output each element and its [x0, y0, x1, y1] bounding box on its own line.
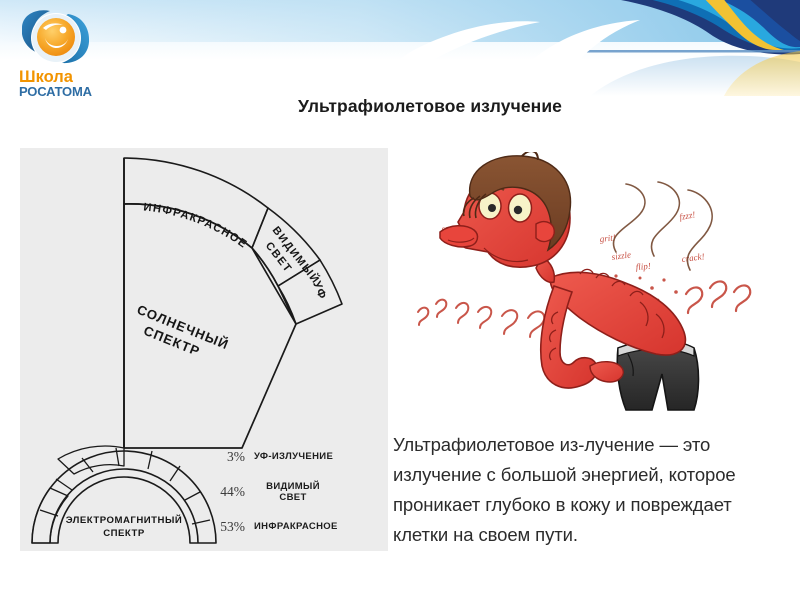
legend-label-line2: СВЕТ	[279, 492, 306, 503]
legend-label: ВИДИМЫЙ СВЕТ	[254, 481, 332, 504]
person-body	[440, 152, 699, 410]
label-uv: УФ	[310, 280, 328, 302]
legend-percent: 53%	[203, 519, 254, 535]
legend-label: УФ-ИЗЛУЧЕНИЕ	[254, 451, 333, 463]
sound-word-sizzle: sizzle	[611, 249, 632, 262]
sound-word-flip: flip!	[635, 261, 651, 272]
legend-label: ИНФРАКРАСНОЕ	[254, 521, 338, 533]
banner-swoosh-graphic	[380, 0, 800, 96]
sunburned-person-illustration: snap! grit! fzzz! sizzle flip! crack!	[404, 152, 794, 424]
legend-percent: 3%	[203, 449, 254, 465]
page-title: Ультрафиолетовое излучение	[150, 96, 710, 117]
logo-text-line2: РОСАТОМА	[19, 84, 93, 98]
sizzle-trail-right	[686, 281, 750, 313]
label-em-spectrum-line2: СПЕКТР	[103, 528, 145, 539]
spectrum-legend: 3% УФ-ИЗЛУЧЕНИЕ 44% ВИДИМЫЙ СВЕТ 53% ИНФ…	[203, 444, 383, 549]
legend-percent: 44%	[203, 484, 254, 500]
torso	[550, 272, 685, 355]
legend-row-visible-light: 44% ВИДИМЫЙ СВЕТ	[203, 479, 383, 505]
logo-mark	[22, 10, 89, 63]
hand	[590, 362, 623, 382]
sound-word-fzzz: fzzz!	[679, 209, 697, 222]
legend-row-infrared: 53% ИНФРАКРАСНОЕ	[203, 514, 383, 540]
label-infrared: ИНФРАКРАСНОЕ	[143, 201, 250, 251]
legend-label-line1: ВИДИМЫЙ	[266, 481, 320, 492]
logo[interactable]: Школа РОСАТОМА	[10, 6, 122, 98]
sound-word-crack: crack!	[681, 251, 705, 264]
mouth	[440, 226, 477, 247]
sizzle-trail-left	[418, 300, 544, 337]
body-paragraph: Ультрафиолетовое из-лучение — это излуче…	[393, 430, 789, 550]
label-em-spectrum-line1: ЭЛЕКТРОМАГНИТНЫЙ	[66, 514, 183, 526]
ear	[536, 222, 554, 242]
legend-row-uv: 3% УФ-ИЗЛУЧЕНИЕ	[203, 444, 383, 470]
